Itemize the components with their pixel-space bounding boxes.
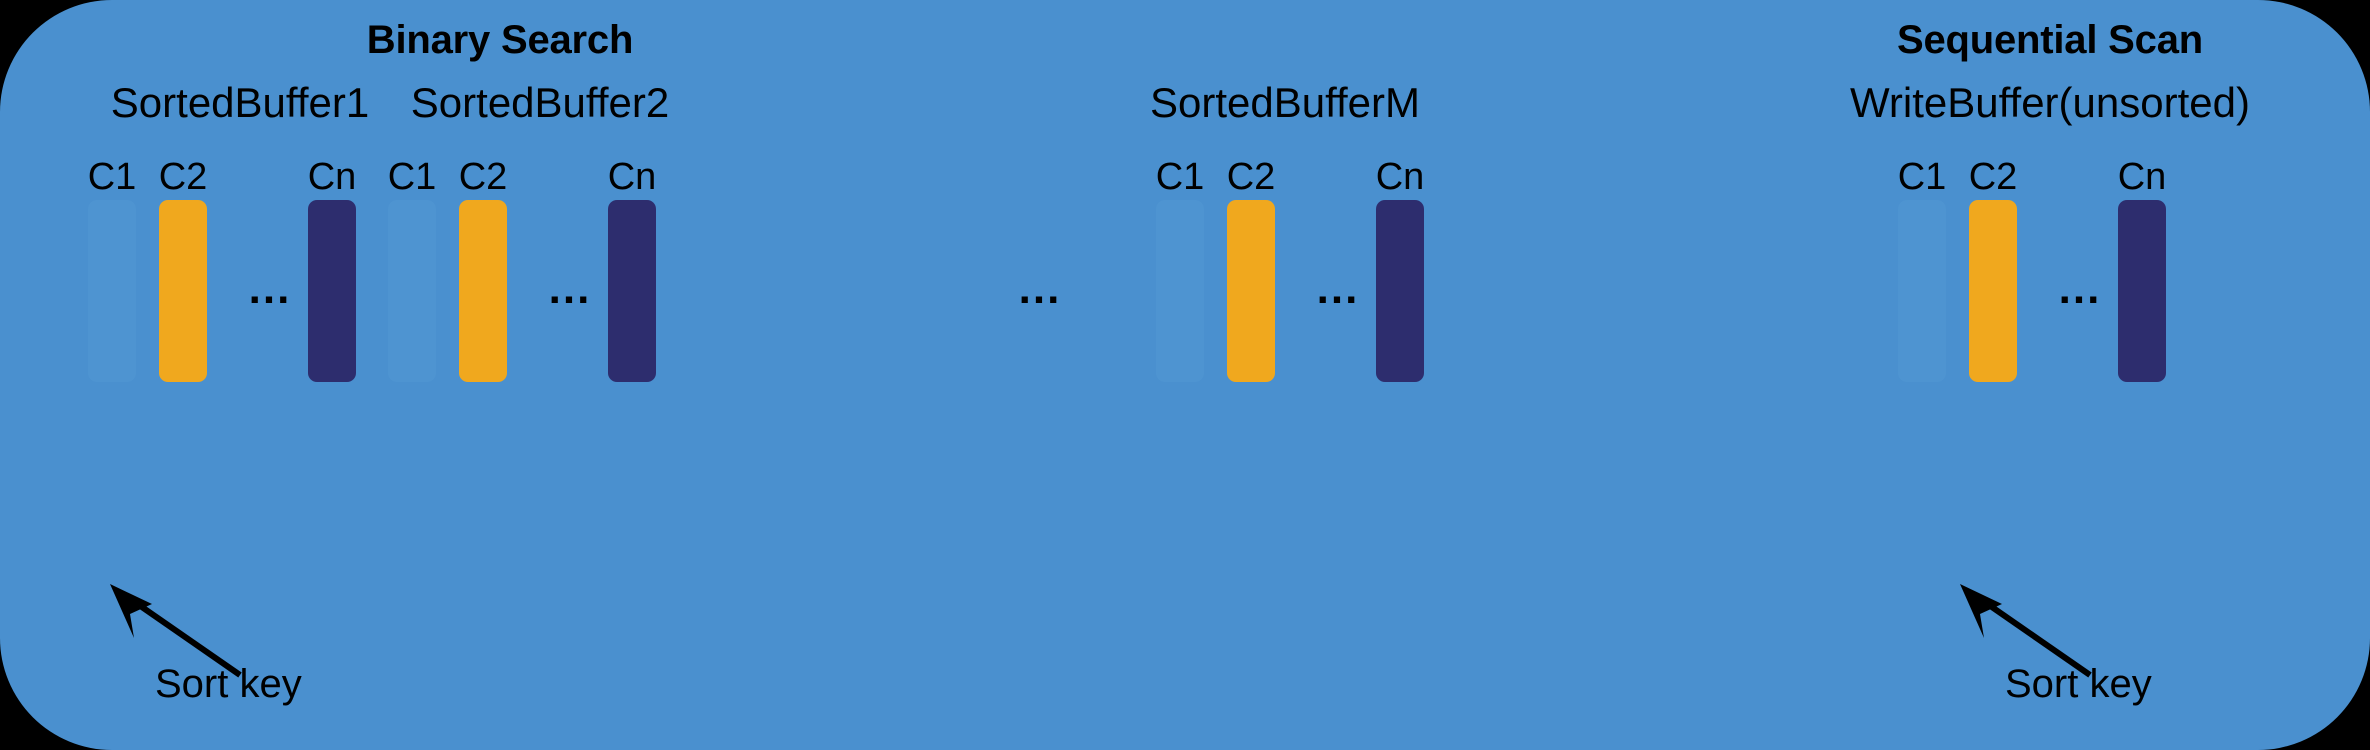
sort-key-label: Sort key [2005, 662, 2152, 707]
columns-ellipsis: ... [249, 267, 292, 311]
columns-ellipsis: ... [549, 267, 592, 311]
buffers-ellipsis: ... [1019, 267, 1062, 311]
columns-ellipsis: ... [2059, 267, 2102, 311]
columns-ellipsis: ... [1317, 267, 1360, 311]
column-bar-cn [608, 200, 656, 382]
buffer-sorted-buffer-2: SortedBuffer2 C1 C2 ... Cn [360, 0, 720, 750]
buffer-label: SortedBufferM [1150, 79, 1420, 127]
column-bar-c1 [88, 200, 136, 382]
column-label-c1: C1 [1156, 156, 1205, 199]
column-bar-cn [2118, 200, 2166, 382]
column-bar-cn [308, 200, 356, 382]
column-bar-cn [1376, 200, 1424, 382]
column-bar-c2 [1969, 200, 2017, 382]
buffer-label: SortedBuffer2 [411, 79, 669, 127]
annotation-sort-key-left: Sort key [60, 570, 400, 720]
column-bar-c1 [1898, 200, 1946, 382]
column-label-c2: C2 [1969, 156, 2018, 199]
diagram-panel: Binary Search Sequential Scan SortedBuff… [0, 0, 2370, 750]
annotation-sort-key-right: Sort key [1910, 570, 2250, 720]
column-label-c2: C2 [1227, 156, 1276, 199]
column-label-c1: C1 [388, 156, 437, 199]
column-label-cn: Cn [308, 156, 357, 199]
column-bar-c2 [1227, 200, 1275, 382]
buffer-label: WriteBuffer(unsorted) [1850, 79, 2250, 127]
buffer-sorted-buffer-m: SortedBufferM C1 C2 ... Cn [1105, 0, 1465, 750]
column-label-cn: Cn [1376, 156, 1425, 199]
diagram-canvas: Binary Search Sequential Scan SortedBuff… [0, 0, 2370, 750]
buffer-label: SortedBuffer1 [111, 79, 369, 127]
column-bar-c1 [388, 200, 436, 382]
column-label-c2: C2 [159, 156, 208, 199]
column-label-c1: C1 [88, 156, 137, 199]
column-bar-c2 [459, 200, 507, 382]
column-bar-c2 [159, 200, 207, 382]
column-label-cn: Cn [608, 156, 657, 199]
column-label-c2: C2 [459, 156, 508, 199]
column-label-c1: C1 [1898, 156, 1947, 199]
column-label-cn: Cn [2118, 156, 2167, 199]
sort-key-label: Sort key [155, 662, 302, 707]
column-bar-c1 [1156, 200, 1204, 382]
